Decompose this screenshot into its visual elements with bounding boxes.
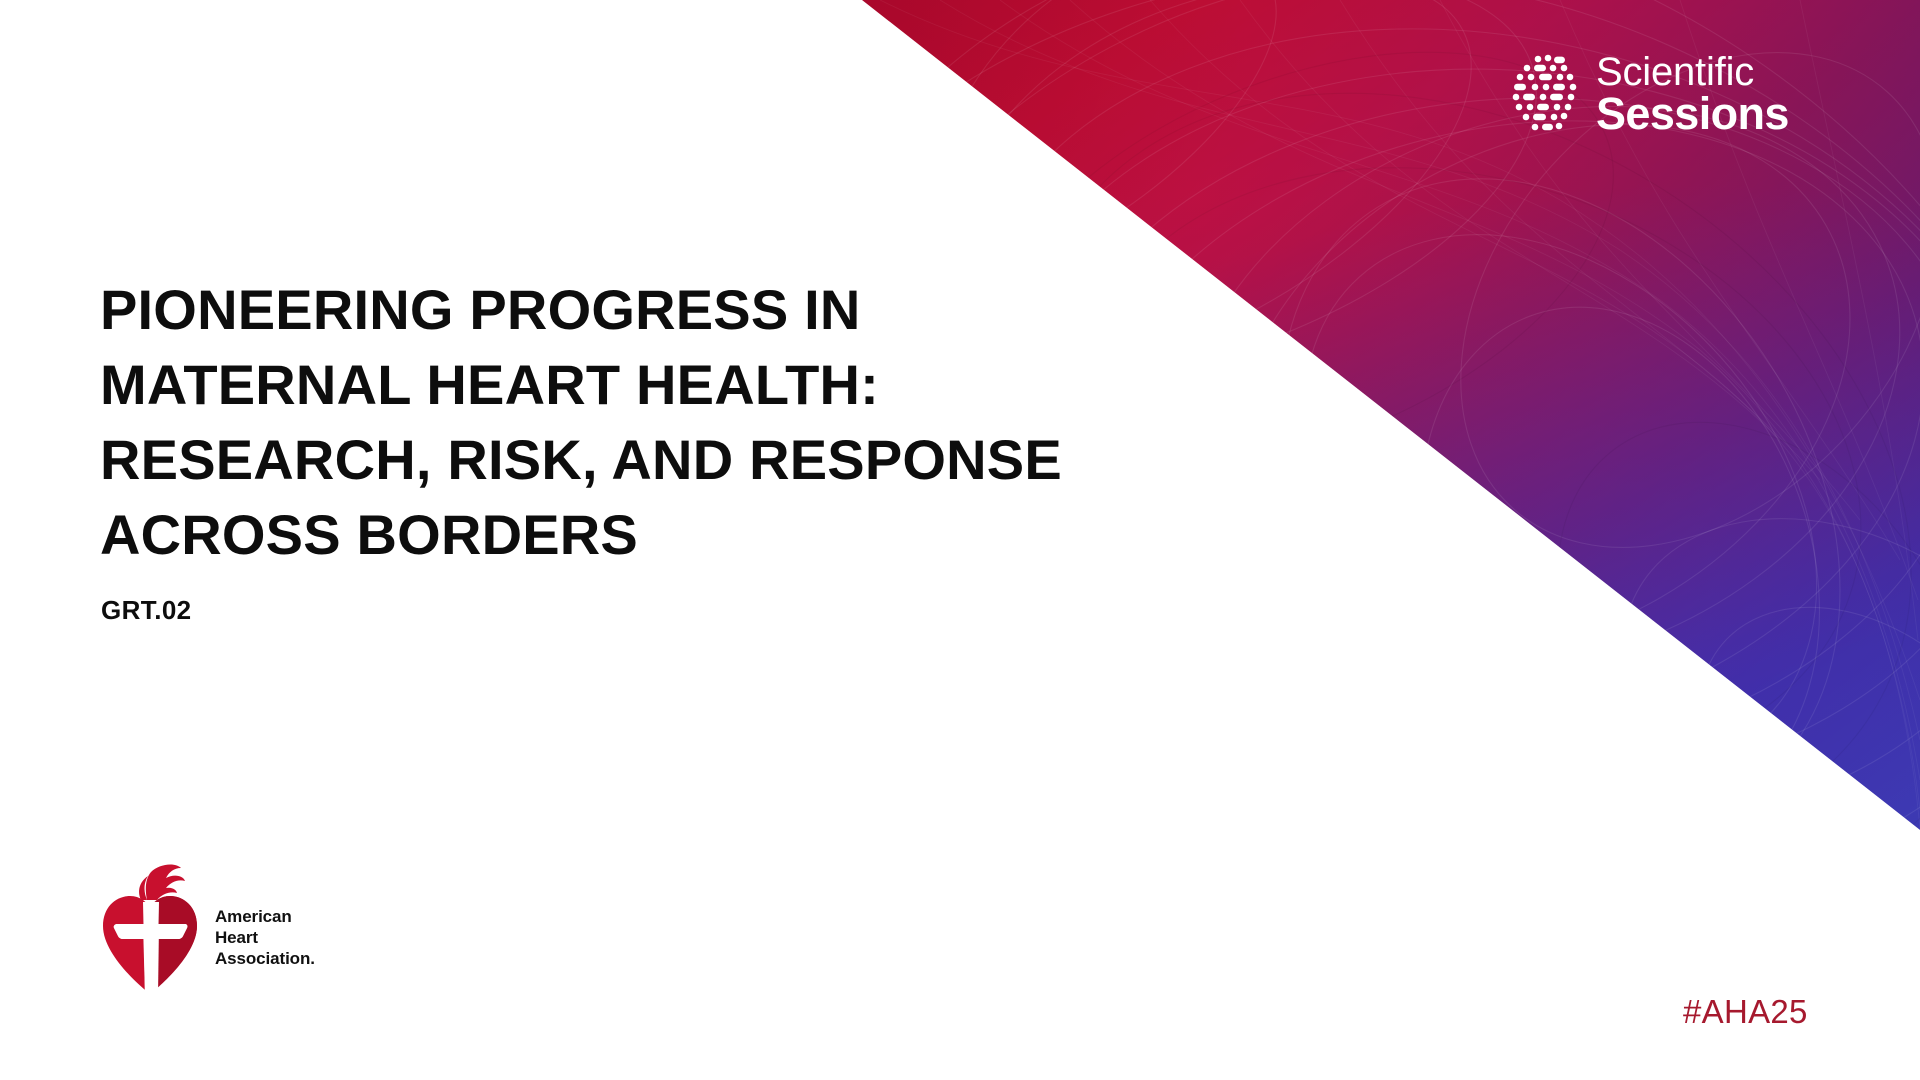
title-line-3: RESEARCH, RISK, AND RESPONSE [100,422,1100,497]
event-hashtag: #AHA25 [1683,993,1808,1031]
ss-line-sessions: Sessions [1596,92,1789,135]
aha-word-line-3: Association. [215,948,315,969]
session-code-label: GRT.02 [101,595,192,626]
heart-and-torch-icon [95,862,205,1002]
scientific-sessions-wordmark: Scientific Sessions [1596,53,1789,136]
aha-word-line-2: Heart [215,927,315,948]
title-line-1: PIONEERING PROGRESS IN [100,272,1100,347]
title-line-4: ACROSS BORDERS [100,497,1100,572]
title-line-2: MATERNAL HEART HEALTH: [100,347,1100,422]
scientific-sessions-logo: Scientific Sessions [1508,52,1789,136]
dotted-globe-icon [1508,52,1582,136]
aha-wordmark: American Heart Association. [215,906,315,969]
american-heart-association-logo: American Heart Association. [95,862,315,1002]
presentation-slide: Scientific Sessions PIONEERING PROGRESS … [0,0,1920,1080]
ss-line-scientific: Scientific [1596,53,1789,91]
page-title: PIONEERING PROGRESS IN MATERNAL HEART HE… [100,272,1100,572]
aha-word-line-1: American [215,906,315,927]
